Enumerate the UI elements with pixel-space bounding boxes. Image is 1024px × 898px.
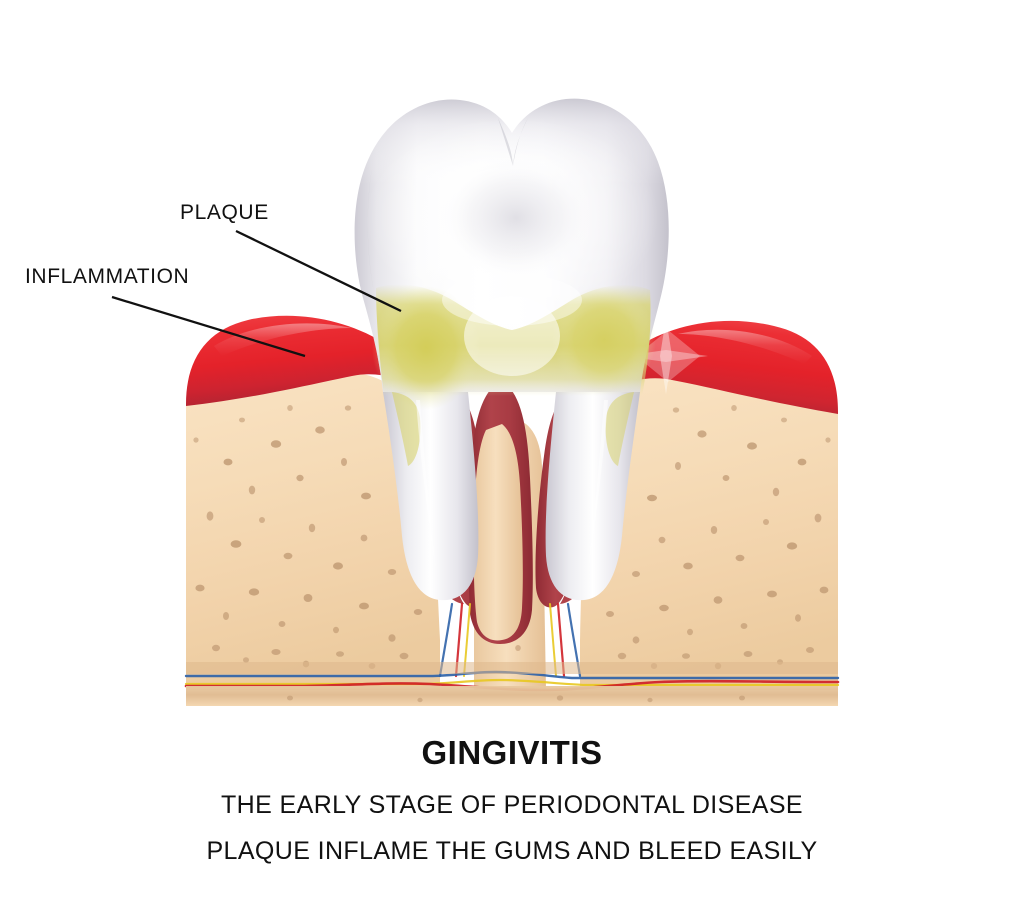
gingivitis-anatomical-illustration xyxy=(0,0,1024,720)
caption-line-1: THE EARLY STAGE OF PERIODONTAL DISEASE xyxy=(0,793,1024,818)
caption-block: GINGIVITIS THE EARLY STAGE OF PERIODONTA… xyxy=(0,735,1024,885)
callout-label-plaque: PLAQUE xyxy=(180,202,269,223)
figure-title: GINGIVITIS xyxy=(0,735,1024,771)
illustration-canvas: PLAQUE INFLAMMATION GINGIVITIS THE EARLY… xyxy=(0,0,1024,898)
callout-label-inflammation: INFLAMMATION xyxy=(25,266,189,287)
septum-bone-inner xyxy=(474,424,523,640)
caption-line-2: PLAQUE INFLAME THE GUMS AND BLEED EASILY xyxy=(0,839,1024,864)
